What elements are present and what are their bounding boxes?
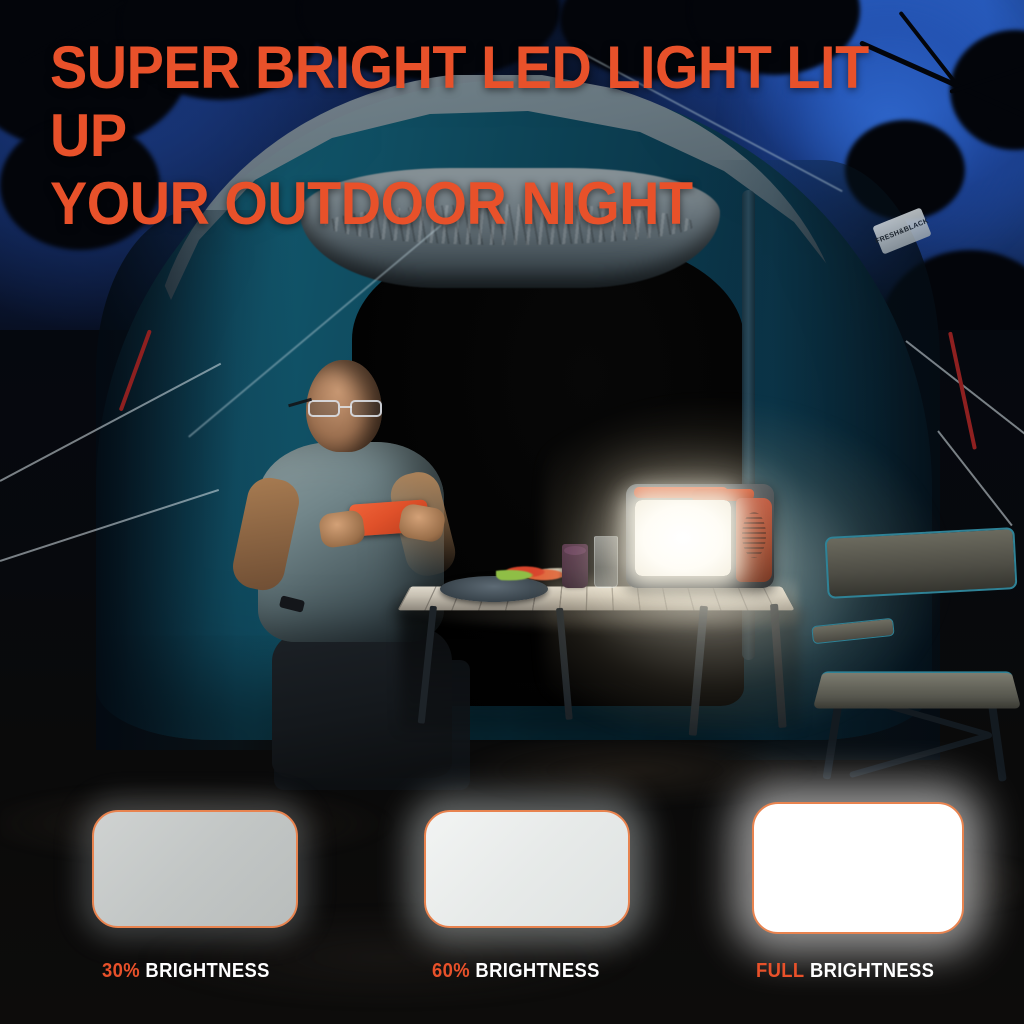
brightness-comparison-row: 30% BRIGHTNESS 60% BRIGHTNESS FULL BRIGH… [0,788,1024,1024]
brightness-word-full: BRIGHTNESS [810,960,934,982]
brightness-level-full: FULL [756,960,804,982]
brightness-mode-full[interactable]: FULL BRIGHTNESS [752,802,964,934]
brightness-mode-60[interactable]: 60% BRIGHTNESS [424,810,630,928]
brightness-mode-30[interactable]: 30% BRIGHTNESS [92,810,298,928]
brightness-label-30: 30% BRIGHTNESS [102,960,270,983]
page-title: SUPER BRIGHT LED LIGHT LIT UP YOUR OUTDO… [50,34,915,238]
lantern-led-panel [635,500,731,576]
eyeglasses-icon [306,400,386,418]
brightness-word-30: BRIGHTNESS [145,960,269,982]
lens-right [350,400,382,417]
chair-seat [813,671,1021,708]
drinking-glass [594,536,618,588]
led-lantern [626,484,774,588]
lantern-side-panel [736,498,772,582]
product-banner: FRESH&BLACK [0,0,1024,1024]
food-items [496,562,568,584]
tent-guy-tensioner [948,332,977,450]
brightness-label-60: 60% BRIGHTNESS [432,960,600,983]
brightness-level-30: 30% [102,960,140,982]
chair-armrest [811,618,894,644]
lens-left [308,400,340,417]
chair-backrest [825,527,1018,599]
brightness-label-full: FULL BRIGHTNESS [756,960,934,983]
brightness-swatch-full [752,802,964,934]
brightness-word-60: BRIGHTNESS [475,960,599,982]
drink-cup [562,544,588,588]
folding-camp-chair [812,516,1024,784]
brightness-swatch-30 [92,810,298,928]
chair-frame-leg [988,703,1007,781]
brightness-level-60: 60% [432,960,470,982]
brightness-swatch-60 [424,810,630,928]
chair-frame-leg [822,705,841,779]
glasses-bridge [340,406,352,408]
chair-frame-cross [849,732,993,779]
